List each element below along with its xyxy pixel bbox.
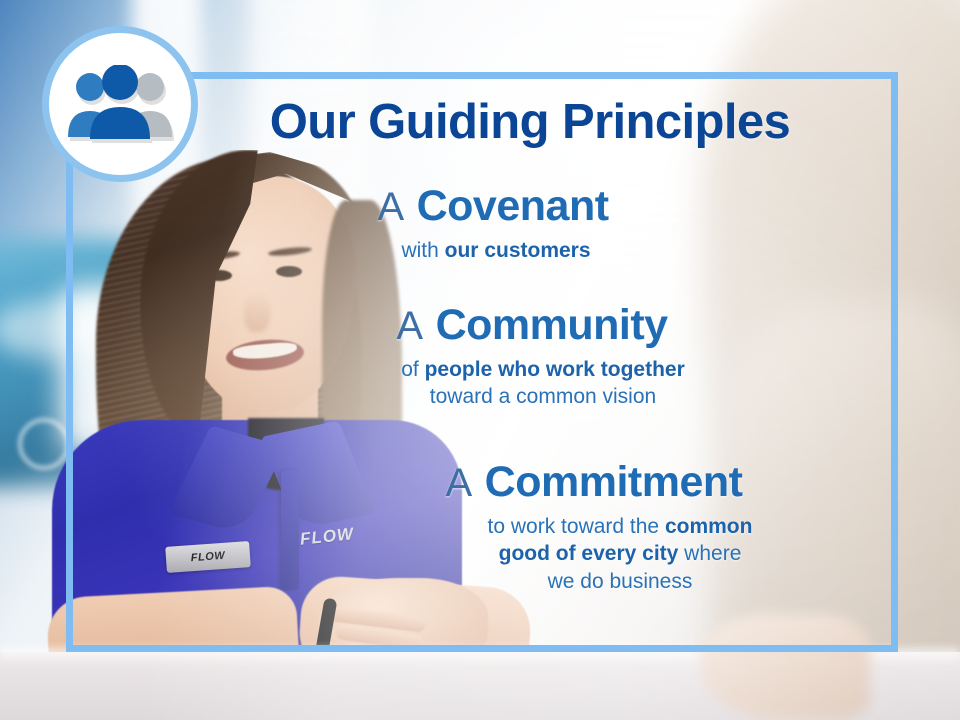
principle-headline: A Covenant xyxy=(66,184,898,230)
principle-subtext-line: toward a common vision xyxy=(188,383,898,411)
principles-content: Our Guiding Principles A Covenant with o… xyxy=(66,72,898,652)
principle-block-covenant: A Covenant with our customers xyxy=(66,184,898,264)
principle-keyword: Commitment xyxy=(485,458,743,506)
principle-block-commitment: A Commitment to work toward the common g… xyxy=(66,460,898,596)
principle-headline: A Community xyxy=(66,303,898,349)
principle-subtext: with our customers xyxy=(66,237,898,265)
principle-headline: A Commitment xyxy=(66,460,898,506)
principle-subtext-line: to work toward the common xyxy=(342,513,898,541)
principle-block-community: A Community of people who work together … xyxy=(66,303,898,411)
principle-keyword: Community xyxy=(436,301,668,349)
principle-subtext-line: good of every city where xyxy=(342,540,898,568)
principle-subtext: of people who work together toward a com… xyxy=(66,356,898,411)
principle-article: A xyxy=(377,185,404,229)
guiding-principles-graphic: FLOW FLOW xyxy=(0,0,960,720)
principle-subtext: to work toward the common good of every … xyxy=(66,513,898,596)
principle-subtext-line: of people who work together xyxy=(188,356,898,384)
principle-subtext-line: with our customers xyxy=(94,237,898,265)
principle-article: A xyxy=(446,461,473,505)
principle-subtext-line: we do business xyxy=(342,568,898,596)
page-title: Our Guiding Principles xyxy=(66,98,898,148)
principle-keyword: Covenant xyxy=(417,182,609,230)
principle-article: A xyxy=(396,304,423,348)
